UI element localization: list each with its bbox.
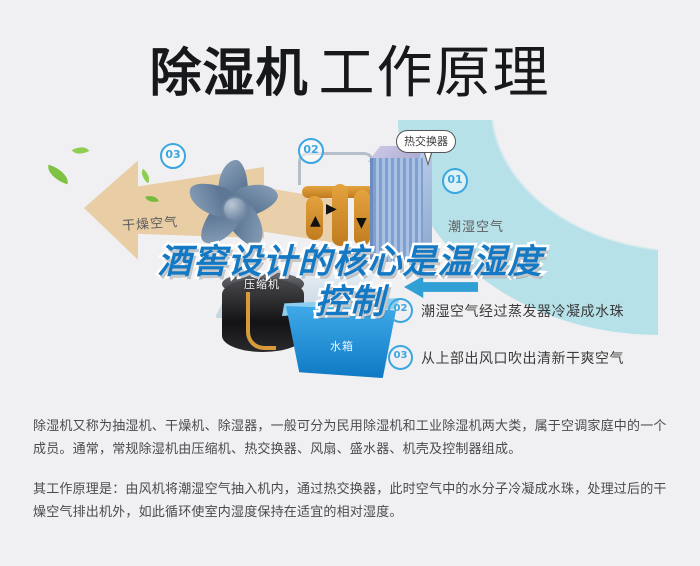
badge-01: 01 [442,168,468,194]
body-paragraph-2: 其工作原理是：由风机将潮湿空气抽入机内，通过热交换器，此时空气中的水分子冷凝成水… [33,478,667,524]
water-tank-label: 水箱 [330,338,354,354]
page-title-strong: 除湿机 [149,44,308,104]
list-item: 03 从上部出风口吹出清新干爽空气 [388,345,688,370]
body-copy: 除湿机又称为抽湿机、干燥机、除湿器，一般可分为民用除湿机和工业除湿机两大类，属于… [33,415,667,541]
step-text: 潮湿空气经过蒸发器冷凝成水珠 [421,301,624,321]
dry-air-label: 干燥空气 [121,211,178,234]
body-paragraph-1: 除湿机又称为抽湿机、干燥机、除湿器，一般可分为民用除湿机和工业除湿机两大类，属于… [33,415,667,461]
leaf-icon [138,169,153,183]
step-badge: 03 [388,345,413,370]
arrow-up-icon: ▲ [310,214,321,228]
badge-03: 03 [160,143,186,169]
leaf-icon [45,165,72,185]
heat-exchanger-callout: 热交换器 [396,130,456,153]
step-list: 02 潮湿空气经过蒸发器冷凝成水珠 03 从上部出风口吹出清新干爽空气 [388,298,688,392]
page-title-light: 工作原理 [319,41,551,106]
badge-02: 02 [298,138,324,164]
step-badge: 02 [388,298,413,323]
step-text: 从上部出风口吹出清新干爽空气 [421,348,624,368]
overlay-headline-line1: 酒窖设计的核心是温湿度 [0,242,700,282]
humid-air-label: 潮湿空气 [448,216,504,235]
arrow-right-icon: ▶ [326,202,337,216]
fan-icon [178,152,286,256]
page-title: 除湿机工作原理 [0,28,700,109]
leaf-icon [72,143,89,158]
list-item: 02 潮湿空气经过蒸发器冷凝成水珠 [388,298,688,323]
arrow-down-icon: ▼ [356,216,367,230]
